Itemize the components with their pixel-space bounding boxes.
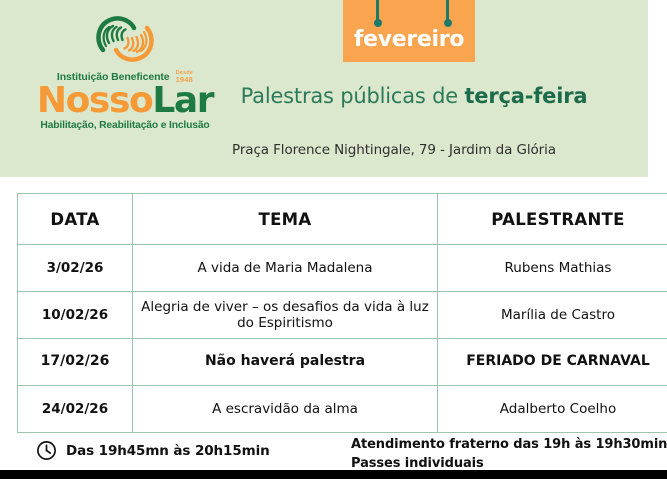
page-title-prefix: Palestras públicas de <box>241 84 465 108</box>
pin-right-icon <box>446 0 449 22</box>
nosso-lar-logo: Instituição Beneficente Desde 1948 Nosso… <box>32 10 218 131</box>
cell-tema: A vida de Maria Madalena <box>133 245 438 292</box>
table-header-row: DATA TEMA PALESTRANTE <box>18 194 667 245</box>
pin-left-icon <box>376 0 379 22</box>
cell-palestrante: Rubens Mathias <box>438 245 667 292</box>
cell-palestrante: Adalberto Coelho <box>438 386 667 433</box>
page-title-emphasis: terça-feira <box>464 84 587 108</box>
cell-tema: Não haverá palestra <box>133 339 438 386</box>
cell-tema: A escravidão da alma <box>133 386 438 433</box>
cell-date: 17/02/26 <box>18 339 133 386</box>
cell-date: 24/02/26 <box>18 386 133 433</box>
logo-word-nosso: Nosso <box>37 80 152 121</box>
footer-service-group: Atendimento fraterno das 19h às 19h30min… <box>351 436 667 474</box>
column-header-palestrante: PALESTRANTE <box>438 194 667 245</box>
bottom-bar <box>0 470 667 479</box>
venue-address: Praça Florence Nightingale, 79 - Jardim … <box>140 142 648 158</box>
footer-hours-text: Das 19h45mn às 20h15min <box>66 443 270 459</box>
cell-palestrante: FERIADO DE CARNAVAL <box>438 339 667 386</box>
footer-hours-group: Das 19h45mn às 20h15min <box>36 440 270 461</box>
table-row: 10/02/26 Alegria de viver – os desafios … <box>18 292 667 339</box>
footer-service-line-1: Atendimento fraterno das 19h às 19h30min <box>351 436 667 455</box>
table-row: 17/02/26 Não haverá palestra FERIADO DE … <box>18 339 667 386</box>
page-title: Palestras públicas de terça-feira <box>180 84 648 108</box>
schedule-table: DATA TEMA PALESTRANTE 3/02/26 A vida de … <box>17 193 667 433</box>
table-row: 24/02/26 A escravidão da alma Adalberto … <box>18 386 667 433</box>
month-label: fevereiro <box>343 27 475 52</box>
cell-date: 10/02/26 <box>18 292 133 339</box>
logo-tagline: Habilitação, Reabilitação e Inclusão <box>32 120 218 131</box>
cell-date: 3/02/26 <box>18 245 133 292</box>
cell-palestrante: Marília de Castro <box>438 292 667 339</box>
month-tag: fevereiro <box>343 0 475 62</box>
clock-icon <box>36 440 57 461</box>
two-hands-icon <box>90 10 160 68</box>
cell-tema: Alegria de viver – os desafios da vida à… <box>133 292 438 339</box>
column-header-tema: TEMA <box>133 194 438 245</box>
column-header-data: DATA <box>18 194 133 245</box>
table-row: 3/02/26 A vida de Maria Madalena Rubens … <box>18 245 667 292</box>
